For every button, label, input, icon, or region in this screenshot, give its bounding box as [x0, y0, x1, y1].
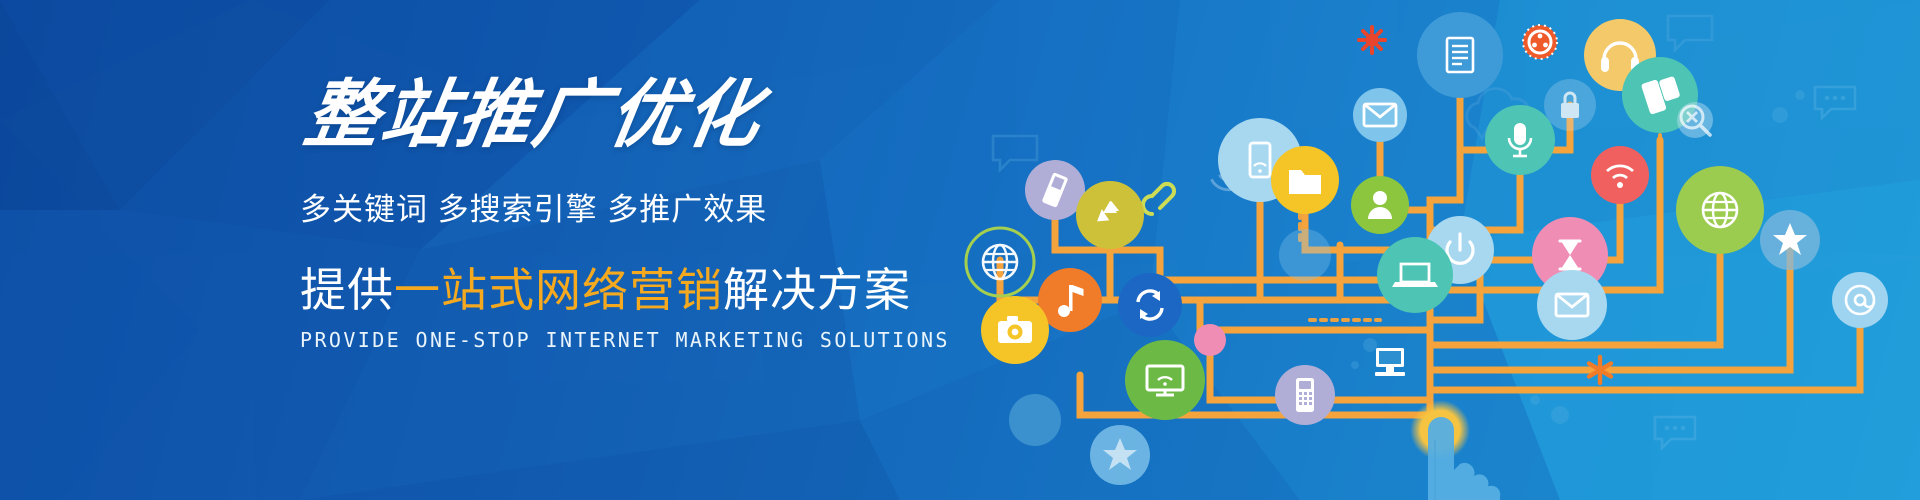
- subtitle: 多关键词 多搜索引擎 多推广效果: [300, 184, 940, 229]
- page-title: 整站推广优化: [300, 78, 952, 152]
- english-tagline: PROVIDE ONE-STOP INTERNET MARKETING SOLU…: [300, 328, 940, 352]
- internet-marketing-icon-tree: [960, 0, 1920, 500]
- tagline-highlight: 一站式网络营销: [394, 264, 723, 316]
- tagline-prefix: 提供: [300, 264, 394, 316]
- copy-block: 整站推广优化 多关键词 多搜索引擎 多推广效果 提供一站式网络营销解决方案 PR…: [300, 78, 940, 352]
- tagline: 提供一站式网络营销解决方案: [300, 265, 940, 316]
- marketing-banner: 整站推广优化 多关键词 多搜索引擎 多推广效果 提供一站式网络营销解决方案 PR…: [0, 0, 1920, 500]
- tagline-suffix: 解决方案: [723, 264, 911, 316]
